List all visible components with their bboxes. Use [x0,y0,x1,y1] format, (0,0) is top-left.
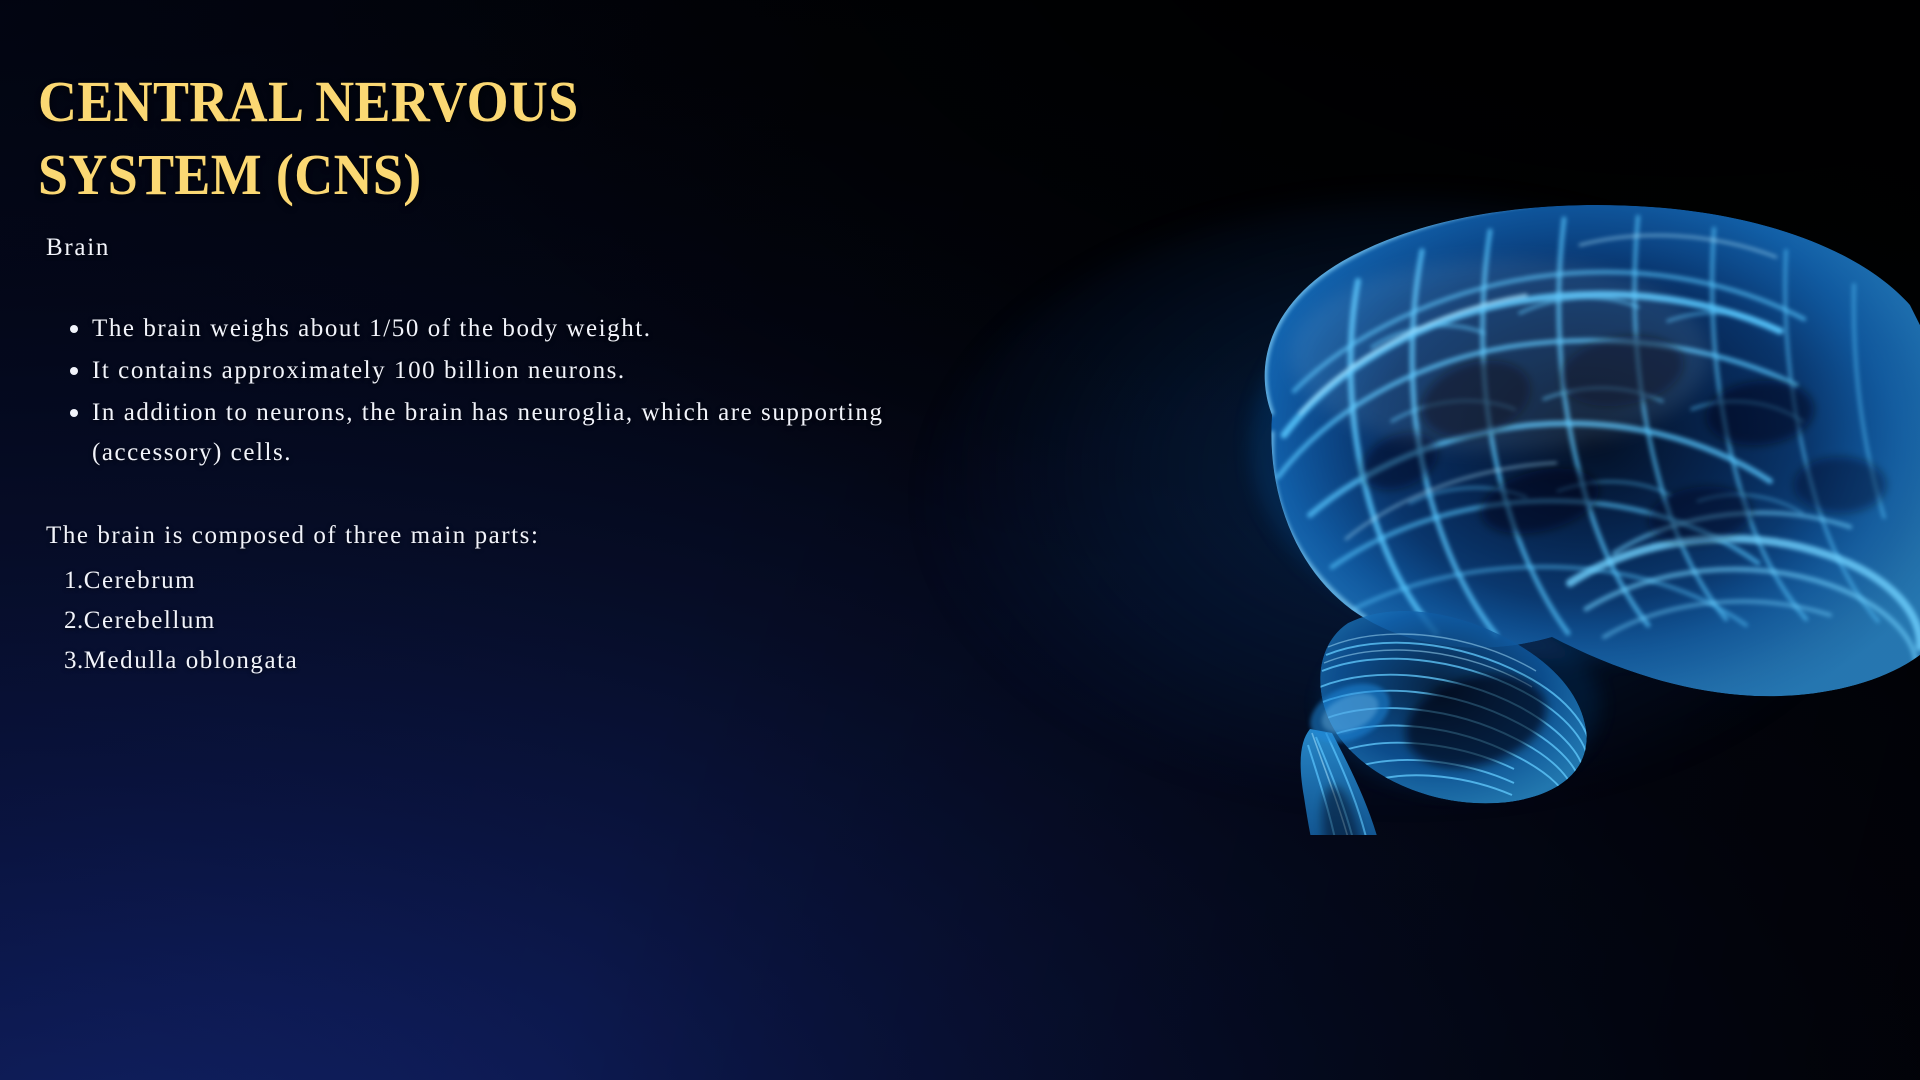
list-item: The brain weighs about 1/50 of the body … [46,309,946,349]
list-item: In addition to neurons, the brain has ne… [46,393,946,473]
list-item-label: Cerebellum [84,601,216,641]
slide-body: Brain The brain weighs about 1/50 of the… [46,230,946,681]
slide-title-line-2: System (CNS) [38,138,875,211]
list-item-label: Medulla oblongata [84,641,299,681]
list-item: It contains approximately 100 billion ne… [46,351,946,391]
numbered-list: 1. Cerebrum 2. Cerebellum 3. Medulla obl… [46,561,946,681]
composition-intro-line: The brain is composed of three main part… [46,517,946,555]
list-item-marker: 2. [64,601,84,641]
bullet-dot-icon [70,409,78,417]
section-heading: Brain [46,230,946,265]
bullet-text: In addition to neurons, the brain has ne… [92,399,884,466]
list-item: 3. Medulla oblongata [64,641,946,681]
bullet-text: It contains approximately 100 billion ne… [92,357,626,384]
bullet-text: The brain weighs about 1/50 of the body … [92,315,652,342]
slide-title: Central Nervous System (CNS) [38,65,875,211]
list-item-label: Cerebrum [84,561,196,601]
bullet-list: The brain weighs about 1/50 of the body … [46,309,946,473]
presentation-slide: Central Nervous System (CNS) Brain The b… [0,0,1920,1080]
list-item-marker: 1. [64,561,84,601]
list-item: 1. Cerebrum [64,561,946,601]
list-item: 2. Cerebellum [64,601,946,641]
bullet-dot-icon [70,325,78,333]
bullet-dot-icon [70,367,78,375]
list-item-marker: 3. [64,641,84,681]
slide-title-line-1: Central Nervous [38,65,875,138]
